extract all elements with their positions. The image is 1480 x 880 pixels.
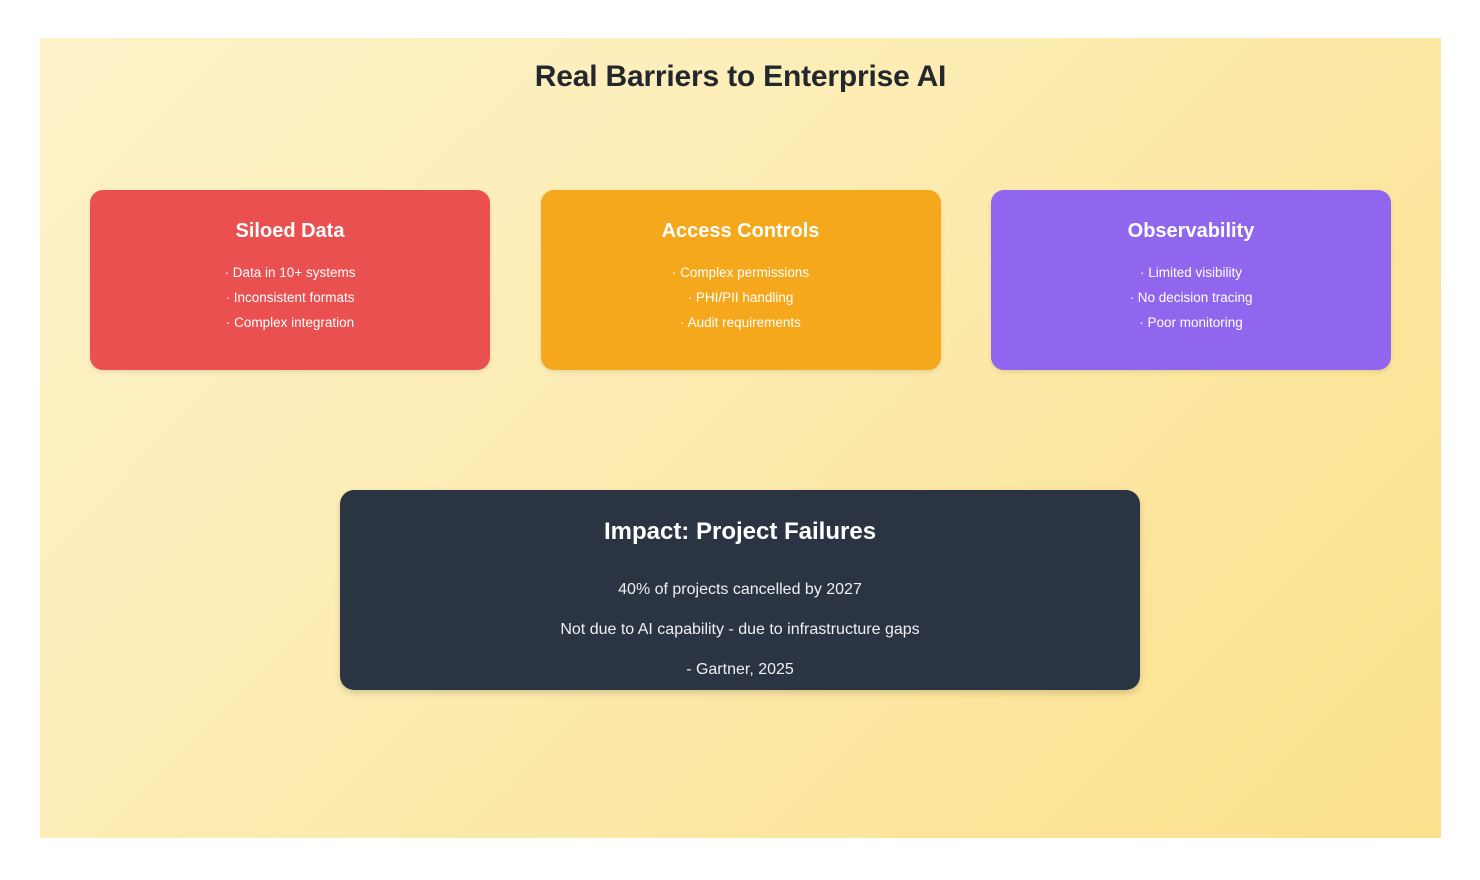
barrier-card-bullet: · Complex integration <box>90 310 490 335</box>
barrier-card: Siloed Data· Data in 10+ systems· Incons… <box>90 190 490 370</box>
impact-line: - Gartner, 2025 <box>340 650 1140 690</box>
barrier-card-bullet-list: · Limited visibility· No decision tracin… <box>991 260 1391 335</box>
barrier-card-title: Observability <box>991 218 1391 244</box>
impact-panel: Impact: Project Failures 40% of projects… <box>340 490 1140 690</box>
impact-line: Not due to AI capability - due to infras… <box>340 610 1140 650</box>
barrier-card: Observability· Limited visibility· No de… <box>991 190 1391 370</box>
barrier-card-title: Access Controls <box>541 218 941 244</box>
barrier-card-title: Siloed Data <box>90 218 490 244</box>
barrier-card-bullet: · PHI/PII handling <box>541 285 941 310</box>
barrier-card-bullet-list: · Data in 10+ systems· Inconsistent form… <box>90 260 490 335</box>
impact-line: 40% of projects cancelled by 2027 <box>340 570 1140 610</box>
slide-canvas: Real Barriers to Enterprise AI Siloed Da… <box>40 38 1441 838</box>
barrier-card-bullet-list: · Complex permissions· PHI/PII handling·… <box>541 260 941 335</box>
barrier-card-row: Siloed Data· Data in 10+ systems· Incons… <box>90 190 1391 370</box>
barrier-card-bullet: · Inconsistent formats <box>90 285 490 310</box>
impact-lines: 40% of projects cancelled by 2027Not due… <box>340 570 1140 690</box>
barrier-card-bullet: · Poor monitoring <box>991 310 1391 335</box>
barrier-card-bullet: · Data in 10+ systems <box>90 260 490 285</box>
barrier-card-bullet: · Audit requirements <box>541 310 941 335</box>
barrier-card: Access Controls· Complex permissions· PH… <box>541 190 941 370</box>
barrier-card-bullet: · Limited visibility <box>991 260 1391 285</box>
impact-title: Impact: Project Failures <box>340 516 1140 548</box>
page-title: Real Barriers to Enterprise AI <box>40 60 1441 94</box>
barrier-card-bullet: · No decision tracing <box>991 285 1391 310</box>
barrier-card-bullet: · Complex permissions <box>541 260 941 285</box>
